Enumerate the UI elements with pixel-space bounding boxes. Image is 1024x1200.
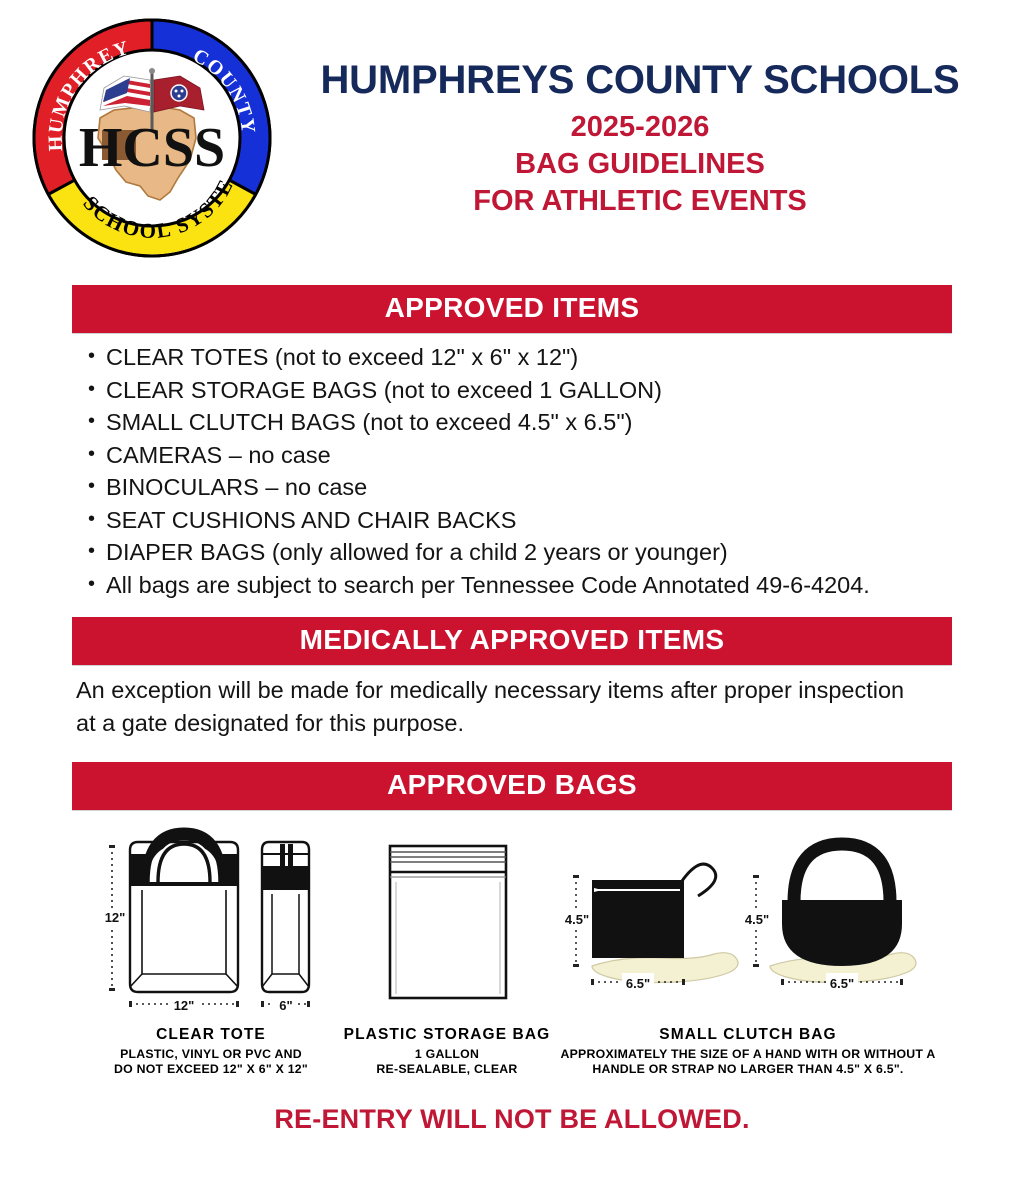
bag-desc-small-clutch-bag: APPROXIMATELY THE SIZE OF A HAND WITH OR… bbox=[558, 1047, 938, 1076]
page-title: HUMPHREYS COUNTY SCHOOLS bbox=[280, 58, 1000, 103]
banner-approved-bags: APPROVED BAGS bbox=[72, 762, 952, 810]
seal-monogram: HCSS bbox=[79, 117, 225, 179]
list-item: SMALL CLUTCH BAGS (not to exceed 4.5" x … bbox=[72, 406, 952, 439]
medically-approved-paragraph: An exception will be made for medically … bbox=[76, 674, 916, 740]
bag-desc-plastic-storage-bag: 1 GALLON RE-SEALABLE, CLEAR bbox=[344, 1047, 551, 1076]
bag-title-clear-tote: CLEAR TOTE bbox=[86, 1026, 336, 1044]
school-year: 2025-2026 bbox=[280, 109, 1000, 146]
tote-depth-label: 6" bbox=[279, 998, 292, 1013]
clutch-left-width-label: 6.5" bbox=[626, 976, 650, 991]
approved-bags-row: 12" bbox=[52, 824, 972, 1076]
tote-width-label: 12" bbox=[174, 998, 195, 1013]
bag-desc-line1: PLASTIC, VINYL OR PVC AND bbox=[86, 1047, 336, 1062]
subtitle-bag-guidelines: BAG GUIDELINES bbox=[280, 146, 1000, 183]
bag-group-clear-tote: 12" bbox=[86, 824, 336, 1076]
list-item: BINOCULARS – no case bbox=[72, 471, 952, 504]
bag-group-small-clutch-bag: 4.5" 6.5" 4.5" bbox=[558, 824, 938, 1076]
approved-items-list: CLEAR TOTES (not to exceed 12" x 6" x 12… bbox=[72, 341, 952, 601]
list-item: CLEAR TOTES (not to exceed 12" x 6" x 12… bbox=[72, 341, 952, 374]
page-header: HUMPHREYS COUNTY SCHOOL SYSTEM bbox=[0, 0, 1024, 285]
banner-medically-approved-items: MEDICALLY APPROVED ITEMS bbox=[72, 617, 952, 665]
bag-desc-line1: 1 GALLON bbox=[344, 1047, 551, 1062]
bag-group-plastic-storage-bag: PLASTIC STORAGE BAG 1 GALLON RE-SEALABLE… bbox=[344, 824, 551, 1076]
bag-desc-line2: HANDLE OR STRAP NO LARGER THAN 4.5" X 6.… bbox=[558, 1062, 938, 1077]
footer-reentry-note: RE-ENTRY WILL NOT BE ALLOWED. bbox=[0, 1104, 1024, 1135]
subtitle-for-athletic-events: FOR ATHLETIC EVENTS bbox=[280, 183, 1000, 220]
list-item: SEAT CUSHIONS AND CHAIR BACKS bbox=[72, 504, 952, 537]
list-item: DIAPER BAGS (only allowed for a child 2 … bbox=[72, 536, 952, 569]
list-item: All bags are subject to search per Tenne… bbox=[72, 569, 952, 602]
clear-tote-illustration: 12" bbox=[86, 824, 336, 1024]
clutch-right-height-label: 4.5" bbox=[745, 912, 769, 927]
approved-items-section: CLEAR TOTES (not to exceed 12" x 6" x 12… bbox=[72, 341, 952, 601]
list-item: CAMERAS – no case bbox=[72, 439, 952, 472]
bag-desc-clear-tote: PLASTIC, VINYL OR PVC AND DO NOT EXCEED … bbox=[86, 1047, 336, 1076]
bag-title-plastic-storage-bag: PLASTIC STORAGE BAG bbox=[344, 1026, 551, 1044]
small-clutch-bag-illustration: 4.5" 6.5" 4.5" bbox=[558, 824, 938, 1024]
plastic-storage-bag-illustration bbox=[352, 824, 542, 1024]
bag-desc-line2: DO NOT EXCEED 12" X 6" X 12" bbox=[86, 1062, 336, 1077]
school-seal-logo: HUMPHREYS COUNTY SCHOOL SYSTEM bbox=[28, 14, 276, 262]
bag-title-small-clutch-bag: SMALL CLUTCH BAG bbox=[558, 1026, 938, 1044]
bag-desc-line2: RE-SEALABLE, CLEAR bbox=[344, 1062, 551, 1077]
banner-approved-items: APPROVED ITEMS bbox=[72, 285, 952, 333]
bag-desc-line1: APPROXIMATELY THE SIZE OF A HAND WITH OR… bbox=[558, 1047, 938, 1062]
tote-height-label: 12" bbox=[105, 910, 126, 925]
list-item: CLEAR STORAGE BAGS (not to exceed 1 GALL… bbox=[72, 374, 952, 407]
title-block: HUMPHREYS COUNTY SCHOOLS 2025-2026 BAG G… bbox=[280, 58, 1000, 220]
medically-approved-section: An exception will be made for medically … bbox=[72, 674, 952, 740]
clutch-left-height-label: 4.5" bbox=[565, 912, 589, 927]
clutch-right-width-label: 6.5" bbox=[830, 976, 854, 991]
